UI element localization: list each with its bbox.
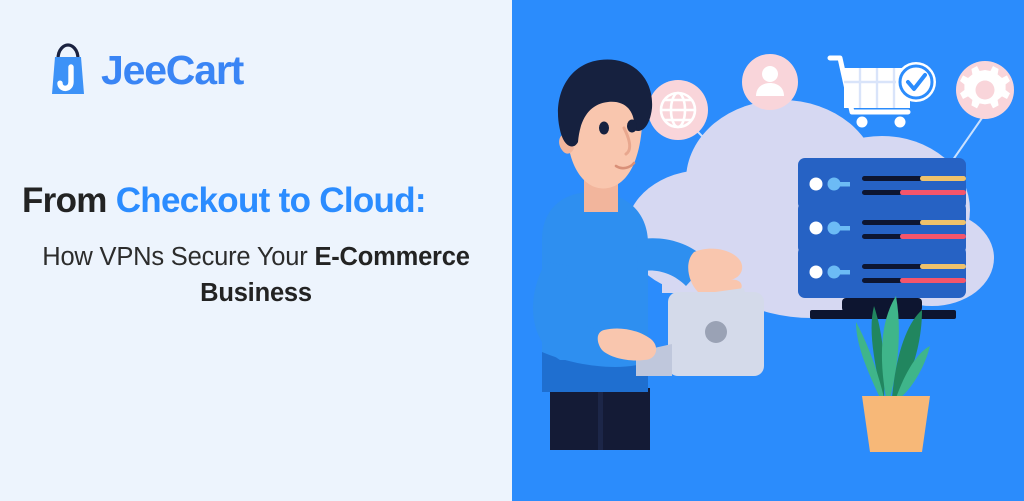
headline-secondary-strong-a: E-Commerce <box>314 243 469 271</box>
person-eye <box>599 122 609 135</box>
brand-wordmark: JeeCart <box>101 50 243 91</box>
shopping-bag-icon <box>44 41 92 99</box>
person-figure <box>533 60 745 450</box>
laptop <box>636 288 764 376</box>
check-circle-icon <box>896 62 936 102</box>
gear-bubble[interactable] <box>956 61 1014 119</box>
banner-root: JeeCart From Checkout to Cloud: How VPNs… <box>0 0 1024 501</box>
shopping-cart-icon <box>830 58 910 128</box>
headline-primary-accent: Checkout to Cloud: <box>116 181 426 220</box>
left-content-panel: JeeCart From Checkout to Cloud: How VPNs… <box>0 0 512 501</box>
potted-plant <box>856 296 930 452</box>
headline-block: From Checkout to Cloud: How VPNs Secure … <box>0 178 512 312</box>
headline-primary-plain: From <box>22 181 116 220</box>
brand-logo[interactable]: JeeCart <box>44 41 243 99</box>
user-bubble[interactable] <box>742 54 798 110</box>
headline-secondary-plain: How VPNs Secure Your <box>42 243 314 271</box>
headline-secondary-strong-b: Business <box>200 279 312 307</box>
cloud-commerce-illustration <box>512 0 1024 501</box>
headline-primary: From Checkout to Cloud: <box>22 178 490 224</box>
plant-pot <box>862 396 930 452</box>
laptop-logo <box>705 321 727 343</box>
person-eye <box>627 120 637 133</box>
globe-bubble[interactable] <box>648 80 708 140</box>
illustration-panel <box>512 0 1024 501</box>
server-stack <box>798 158 966 319</box>
headline-secondary: How VPNs Secure Your E-Commerce Business <box>22 239 490 311</box>
